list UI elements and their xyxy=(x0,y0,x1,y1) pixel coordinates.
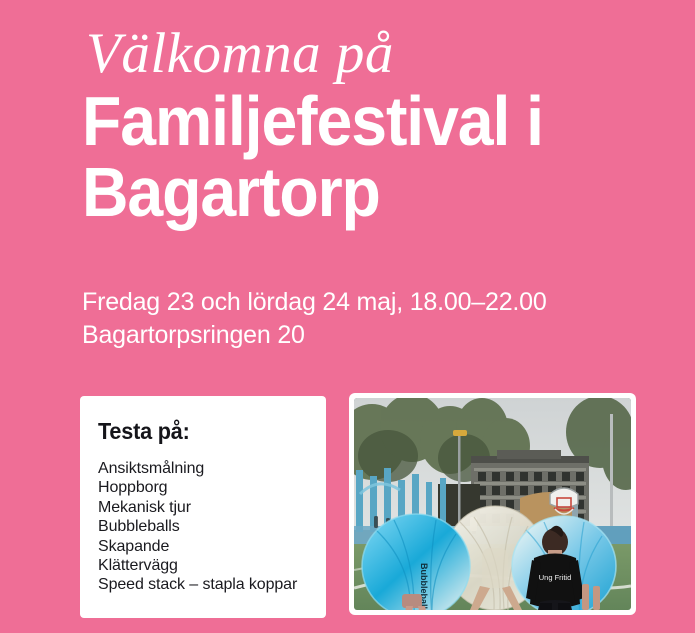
list-item: Speed stack – stapla koppar xyxy=(98,575,308,594)
event-photo-illustration: Bubbleballs xyxy=(354,398,631,610)
poster-root: Välkomna på Familjefestival i Bagartorp … xyxy=(0,0,695,633)
list-item: Klättervägg xyxy=(98,556,308,575)
event-address: Bagartorpsringen 20 xyxy=(82,319,662,352)
event-photo-card: Bubbleballs xyxy=(349,393,636,615)
staff-shirt-text: Ung Fritid xyxy=(539,573,572,582)
headline-block: Välkomna på Familjefestival i Bagartorp xyxy=(82,24,652,228)
poster-eyebrow: Välkomna på xyxy=(86,24,652,84)
activities-heading: Testa på: xyxy=(98,418,295,444)
event-photo: Bubbleballs xyxy=(354,398,631,610)
bottom-row: Testa på: Ansiktsmålning Hoppborg Mekani… xyxy=(0,393,695,633)
event-details: Fredag 23 och lördag 24 maj, 18.00–22.00… xyxy=(82,286,662,352)
page-title: Familjefestival i Bagartorp xyxy=(82,86,606,228)
event-datetime: Fredag 23 och lördag 24 maj, 18.00–22.00 xyxy=(82,286,662,319)
list-item: Skapande xyxy=(98,537,308,556)
list-item: Bubbleballs xyxy=(98,517,308,536)
activities-list: Ansiktsmålning Hoppborg Mekanisk tjur Bu… xyxy=(98,459,308,595)
list-item: Ansiktsmålning xyxy=(98,459,308,478)
activities-card: Testa på: Ansiktsmålning Hoppborg Mekani… xyxy=(80,396,326,618)
list-item: Mekanisk tjur xyxy=(98,498,308,517)
list-item: Hoppborg xyxy=(98,478,308,497)
